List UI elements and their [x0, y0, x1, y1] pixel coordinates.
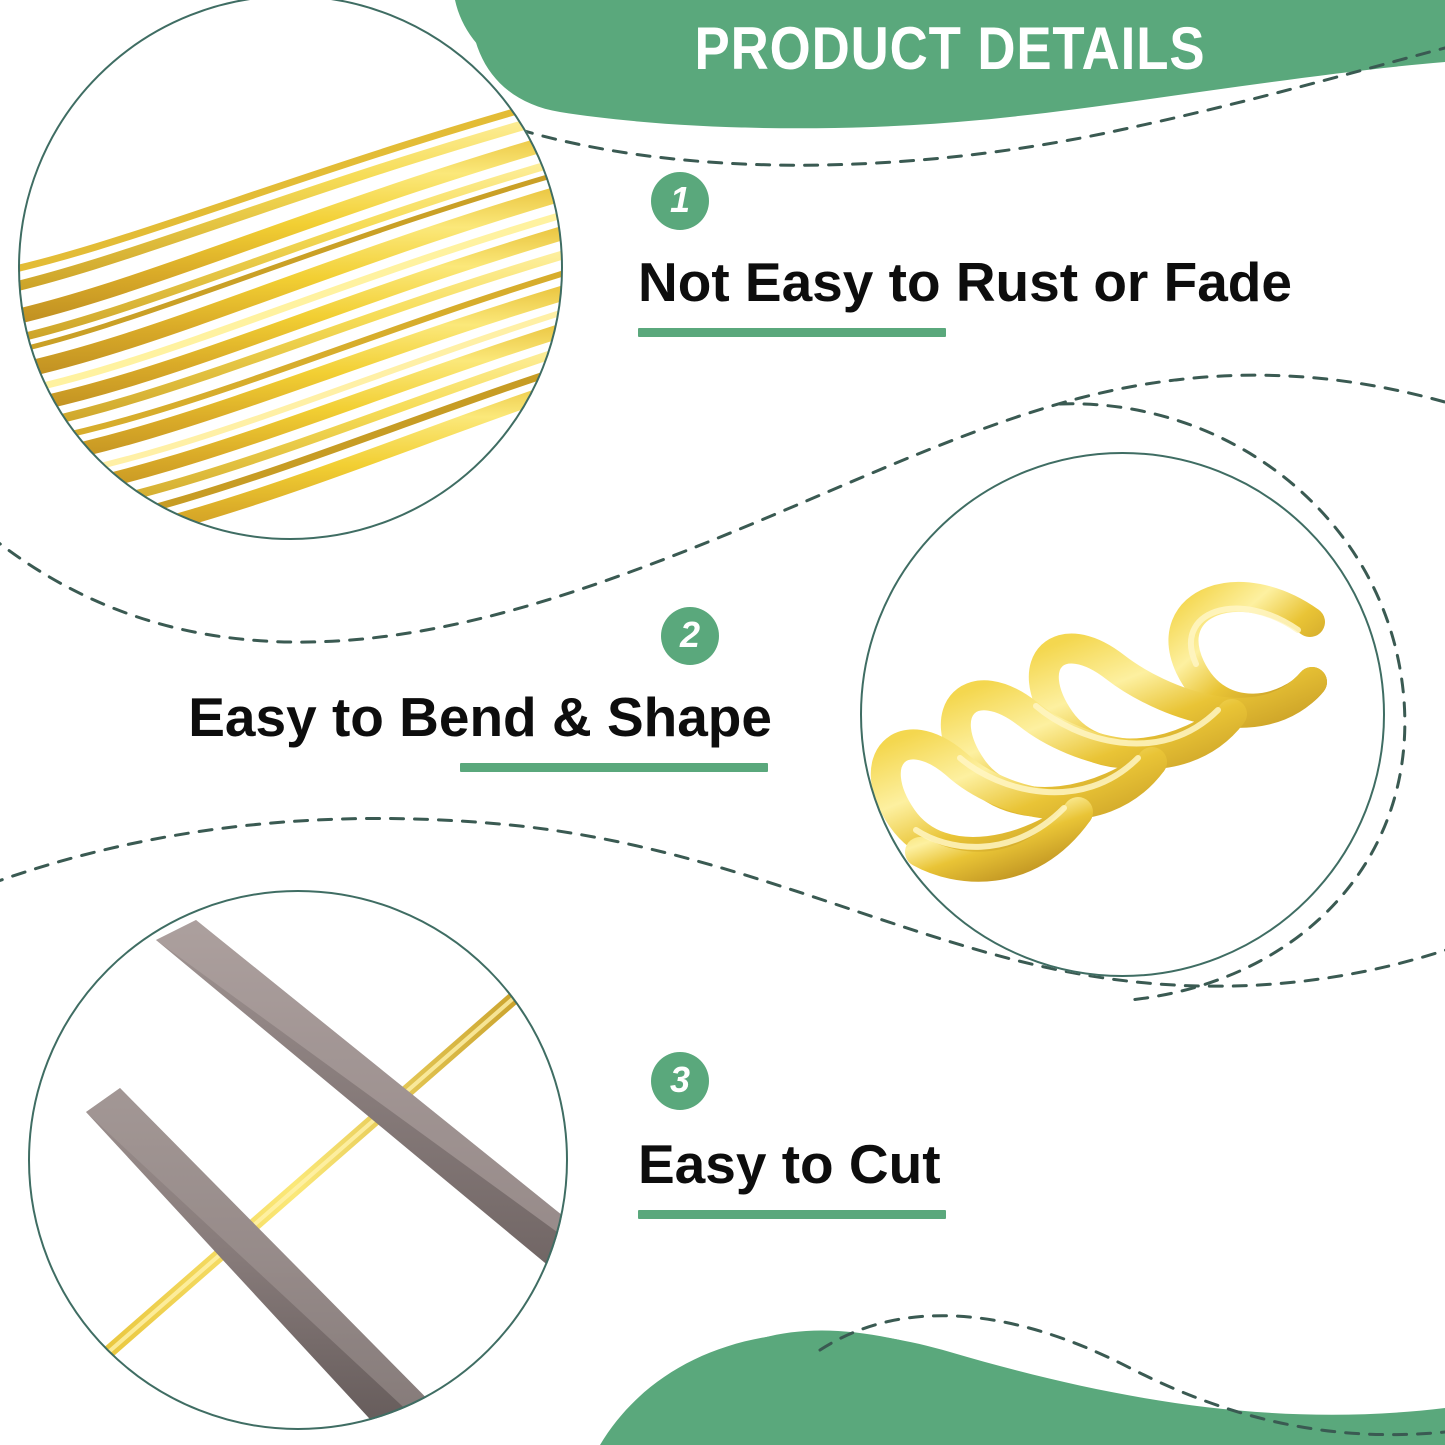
feature-block-2: 2 Easy to Bend & Shape: [0, 607, 772, 772]
product-photo-spiral-coil: [860, 452, 1385, 977]
product-photo-cutting-wire: [28, 890, 568, 1430]
feature-3-number-badge: 3: [651, 1052, 709, 1110]
feature-3-heading: Easy to Cut: [638, 1136, 946, 1194]
feature-block-1: 1 Not Easy to Rust or Fade: [638, 172, 1292, 337]
page-title: PRODUCT DETAILS: [651, 8, 1249, 88]
feature-block-3: 3 Easy to Cut: [638, 1052, 946, 1219]
feature-2-number-badge: 2: [661, 607, 719, 665]
feature-3-underline: [638, 1210, 946, 1219]
feature-1-number-badge: 1: [651, 172, 709, 230]
feature-2-underline: [460, 763, 768, 772]
product-details-infographic: PRODUCT DETAILS 1 Not Easy to Rust or Fa…: [0, 0, 1445, 1445]
feature-1-underline: [638, 328, 946, 337]
feature-1-heading: Not Easy to Rust or Fade: [638, 254, 1292, 312]
feature-2-heading: Easy to Bend & Shape: [188, 689, 772, 747]
product-photo-wire-bundle: [18, 0, 563, 540]
footer-wave-shape-body: [600, 1332, 1445, 1445]
